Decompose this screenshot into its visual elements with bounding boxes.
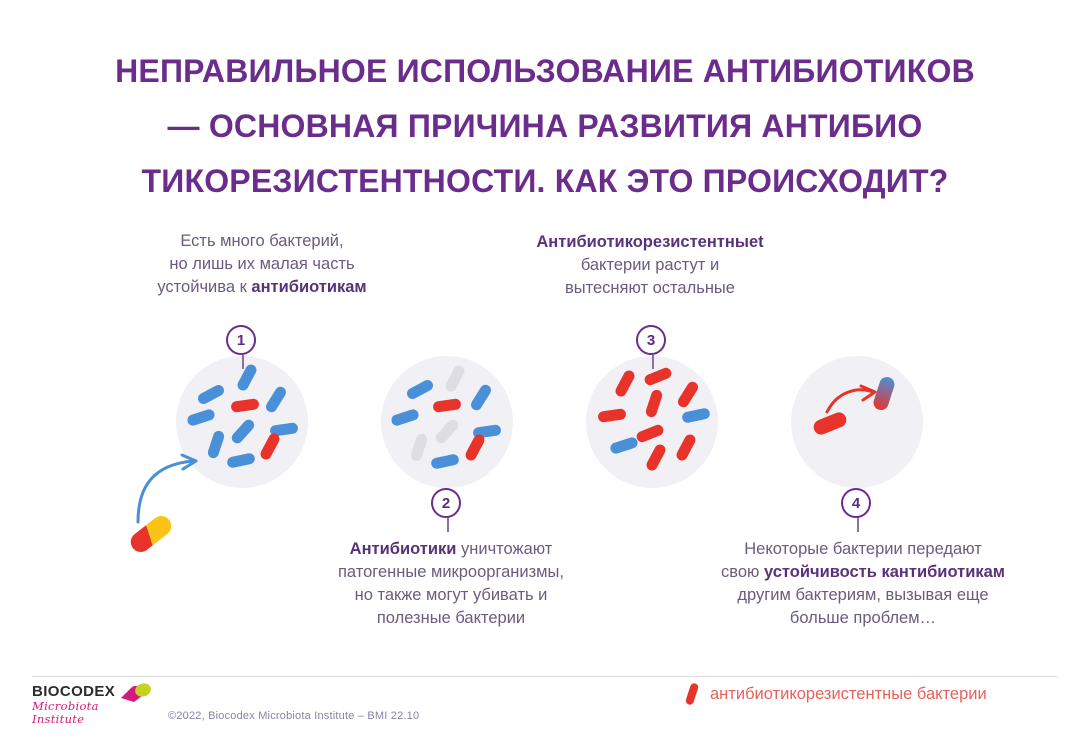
susceptible-bacterium bbox=[186, 408, 216, 427]
susceptible-bacterium bbox=[264, 385, 288, 415]
biocodex-logo: BIOCODEX Microbiota Institute bbox=[32, 684, 152, 726]
pill-to-dish-arrow-icon bbox=[128, 452, 212, 526]
step-badge-2: 2 bbox=[431, 488, 465, 532]
susceptible-bacterium bbox=[236, 363, 259, 393]
killed-bacterium bbox=[434, 417, 461, 445]
logo-capsule-icon bbox=[118, 682, 152, 704]
infographic-canvas: НЕПРАВИЛЬНОЕ ИСПОЛЬЗОВАНИЕ АНТИБИОТИКОВ … bbox=[0, 0, 1090, 752]
resistant-bacterium bbox=[614, 369, 637, 399]
resistant-bacterium bbox=[645, 443, 668, 473]
badge-stem bbox=[857, 516, 859, 532]
title-line-1: НЕПРАВИЛЬНОЕ ИСПОЛЬЗОВАНИЕ АНТИБИОТИКОВ bbox=[0, 48, 1090, 101]
resistant-bacterium bbox=[597, 408, 626, 423]
step-2-caption: Антибиотики уничтожаютпатогенные микроор… bbox=[296, 538, 606, 630]
susceptible-bacterium bbox=[609, 436, 639, 455]
legend-label: антибиотикорезистентные бактерии bbox=[710, 685, 987, 704]
title-line-2: — ОСНОВНАЯ ПРИЧИНА РАЗВИТИЯ АНТИБИО bbox=[0, 103, 1090, 156]
title-line-3: ТИКОРЕЗИСТЕНТНОСТИ. КАК ЭТО ПРОИСХОДИТ? bbox=[0, 158, 1090, 211]
resistant-bacterium bbox=[676, 380, 700, 410]
step-badge-1: 1 bbox=[226, 325, 260, 367]
resistant-bacterium bbox=[635, 423, 665, 444]
legend: антибиотикорезистентные бактерии bbox=[684, 681, 987, 707]
susceptible-bacterium bbox=[430, 453, 460, 470]
step-4-caption: Некоторые бактерии передаютсвою устойчив… bbox=[688, 538, 1038, 630]
killed-bacterium bbox=[444, 364, 467, 394]
resistant-bacterium bbox=[230, 398, 259, 413]
legend-bacteria-icon bbox=[684, 681, 700, 707]
step-badge-3: 3 bbox=[636, 325, 670, 367]
susceptible-bacterium bbox=[405, 378, 435, 401]
petri-dish-2 bbox=[381, 356, 513, 488]
susceptible-bacterium bbox=[196, 383, 226, 406]
step-badge-4: 4 bbox=[841, 488, 875, 532]
resistant-bacterium bbox=[643, 366, 673, 387]
step-badge-3-number: 3 bbox=[636, 325, 666, 355]
resistant-bacterium bbox=[464, 433, 487, 463]
killed-bacterium bbox=[409, 432, 428, 462]
footer-divider bbox=[32, 676, 1058, 677]
susceptible-bacterium bbox=[390, 408, 420, 427]
petri-dish-4 bbox=[791, 356, 923, 488]
badge-stem bbox=[447, 516, 449, 532]
step-3-caption: Антибиотикорезистентныеtбактерии растут … bbox=[500, 231, 800, 300]
badge-stem bbox=[652, 355, 654, 369]
resistant-bacterium bbox=[259, 432, 282, 462]
step-badge-2-number: 2 bbox=[431, 488, 461, 518]
resistant-bacterium bbox=[644, 388, 663, 418]
copyright-text: ©2022, Biocodex Microbiota Institute – B… bbox=[168, 710, 419, 722]
step-badge-4-number: 4 bbox=[841, 488, 871, 518]
susceptible-bacterium bbox=[681, 407, 711, 424]
badge-stem bbox=[242, 355, 244, 369]
susceptible-bacterium bbox=[469, 383, 493, 413]
resistant-bacterium bbox=[675, 433, 698, 463]
step-badge-1-number: 1 bbox=[226, 325, 256, 355]
susceptible-bacterium bbox=[230, 417, 257, 445]
resistance-transfer-arrow-icon bbox=[823, 382, 883, 422]
page-title: НЕПРАВИЛЬНОЕ ИСПОЛЬЗОВАНИЕ АНТИБИОТИКОВ … bbox=[0, 48, 1090, 213]
step-1-caption: Есть много бактерий,но лишь их малая час… bbox=[112, 230, 412, 299]
susceptible-bacterium bbox=[226, 452, 256, 469]
resistant-bacterium bbox=[432, 398, 461, 413]
petri-dish-3 bbox=[586, 356, 718, 488]
